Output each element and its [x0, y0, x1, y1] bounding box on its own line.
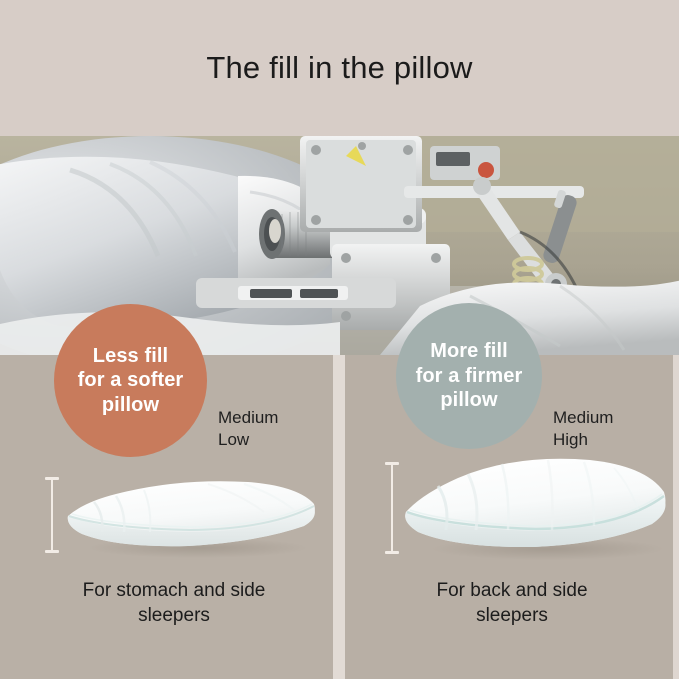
plump-pillow-illustration [398, 452, 670, 560]
flat-pillow-illustration [58, 468, 320, 558]
firmness-right-line2: High [553, 429, 613, 451]
firmness-right-line1: Medium [553, 407, 613, 429]
caption-right-line2: sleepers [362, 603, 662, 628]
badge-more-fill-text: More fill for a firmer pillow [416, 339, 523, 412]
caption-left: For stomach and side sleepers [24, 578, 324, 628]
panel-divider [333, 355, 345, 679]
page-title: The fill in the pillow [0, 50, 679, 86]
caption-right-line1: For back and side [362, 578, 662, 603]
caption-right: For back and side sleepers [362, 578, 662, 628]
firmness-label-left: Medium Low [218, 407, 278, 451]
badge-more-fill-line2: for a firmer [416, 364, 523, 388]
badge-more-fill-line3: pillow [416, 388, 523, 412]
badge-more-fill-line1: More fill [416, 339, 523, 363]
measure-stem-right [391, 462, 393, 554]
pillow-image-left [58, 468, 320, 558]
caption-left-line1: For stomach and side [24, 578, 324, 603]
firmness-label-right: Medium High [553, 407, 613, 451]
right-edge-strip [673, 355, 679, 679]
firmness-left-line2: Low [218, 429, 278, 451]
badge-less-fill-line2: for a softer [78, 368, 184, 392]
pillow-image-right [398, 452, 670, 560]
title-band: The fill in the pillow [0, 0, 679, 136]
caption-left-line2: sleepers [24, 603, 324, 628]
badge-less-fill-line3: pillow [78, 393, 184, 417]
badge-less-fill-text: Less fill for a softer pillow [78, 344, 184, 417]
badge-more-fill: More fill for a firmer pillow [396, 303, 542, 449]
height-measure-bar-left [45, 477, 59, 553]
firmness-left-line1: Medium [218, 407, 278, 429]
measure-stem-left [51, 477, 53, 553]
pillow-fill-infographic: The fill in the pillow [0, 0, 679, 679]
measure-cap-bottom-right [385, 551, 399, 554]
badge-less-fill-line1: Less fill [78, 344, 184, 368]
measure-cap-bottom-left [45, 550, 59, 553]
badge-less-fill: Less fill for a softer pillow [54, 304, 207, 457]
height-measure-bar-right [385, 462, 399, 554]
